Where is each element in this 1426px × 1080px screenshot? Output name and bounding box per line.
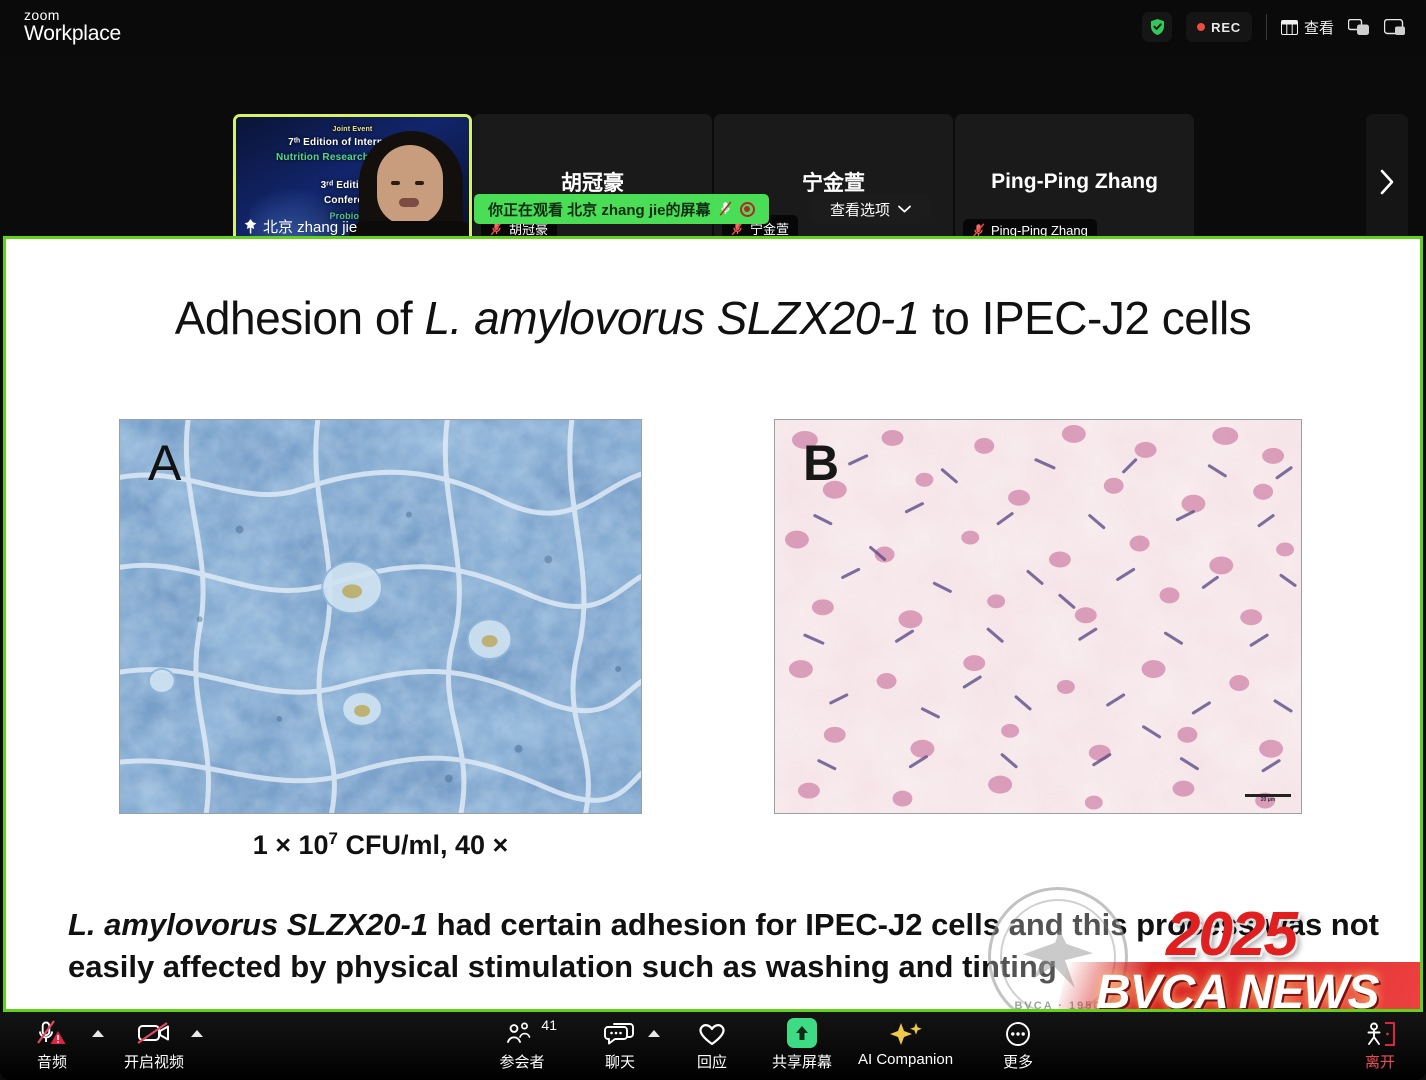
scale-bar: 20 μm — [1245, 794, 1291, 803]
start-video-label: 开启视频 — [124, 1051, 184, 1072]
zoom-workplace-logo: zoom Workplace — [24, 8, 121, 45]
participants-label: 参会者 — [499, 1051, 544, 1072]
chat-label: 聊天 — [605, 1051, 635, 1072]
caption-suffix: CFU/ml, 40 × — [338, 830, 508, 860]
participant-display-name: Ping-Ping Zhang — [955, 170, 1194, 194]
chat-button[interactable]: 聊天 — [592, 1018, 648, 1072]
participant-display-name: 宁金萱 — [714, 167, 953, 197]
presentation-slide: Adhesion of L. amylovorus SLZX20-1 to IP… — [6, 239, 1420, 1009]
panel-label-b: B — [803, 434, 839, 492]
slide-body-text: L. amylovorus SLZX20-1 had certain adhes… — [68, 904, 1380, 988]
title-suffix: to IPEC-J2 cells — [920, 292, 1252, 344]
recording-indicator[interactable]: REC — [1186, 12, 1252, 42]
shield-check-icon — [1149, 18, 1166, 36]
participant-tile-video[interactable]: Joint Event 7ᵗʰ Edition of International… — [233, 114, 472, 250]
slide-title: Adhesion of L. amylovorus SLZX20-1 to IP… — [6, 291, 1420, 345]
participant-filmstrip: Joint Event 7ᵗʰ Edition of International… — [0, 56, 1426, 192]
body-species: L. amylovorus SLZX20-1 — [68, 907, 428, 942]
encryption-shield-badge[interactable] — [1142, 12, 1172, 42]
leave-button[interactable]: 离开 — [1352, 1018, 1408, 1072]
mic-muted-icon — [719, 201, 732, 217]
recording-dot-icon — [740, 202, 755, 217]
leave-label: 离开 — [1365, 1051, 1395, 1072]
leave-meeting-icon — [1363, 1018, 1397, 1048]
minimize-window-icon — [1348, 19, 1370, 36]
participants-icon: 41 — [505, 1018, 539, 1048]
participant-tile-ning-jinxuan[interactable]: 宁金萱 宁金萱 — [714, 114, 953, 250]
chat-options-caret[interactable] — [648, 1030, 660, 1037]
view-label: 查看 — [1304, 17, 1334, 38]
ai-sparkle-icon — [887, 1018, 925, 1048]
watching-screen-banner: 你正在观看 北京 zhang jie的屏幕 — [474, 194, 769, 224]
ai-companion-button[interactable]: AI Companion — [858, 1018, 953, 1068]
participant-display-name: 胡冠豪 — [473, 167, 712, 197]
shared-screen-area[interactable]: Adhesion of L. amylovorus SLZX20-1 to IP… — [3, 236, 1423, 1012]
caption-exponent: 7 — [329, 829, 338, 848]
participant-tile-ping-ping-zhang[interactable]: Ping-Ping Zhang Ping-Ping Zhang — [955, 114, 1194, 250]
video-off-icon — [136, 1018, 172, 1048]
participants-count: 41 — [541, 1017, 557, 1033]
reactions-heart-icon — [696, 1018, 728, 1048]
brand-workplace: Workplace — [24, 23, 121, 45]
meeting-toolbar: 音频 开启视频 41 — [0, 1012, 1426, 1080]
audio-label: 音频 — [37, 1051, 67, 1072]
top-bar-right-controls: REC 查看 — [1142, 12, 1406, 42]
enter-fullscreen-icon — [1384, 19, 1406, 36]
title-prefix: Adhesion of — [175, 292, 425, 344]
figure-caption: 1 × 107 CFU/ml, 40 × — [119, 829, 642, 861]
mic-muted-warning-icon — [33, 1018, 71, 1048]
reactions-label: 回应 — [697, 1051, 727, 1072]
seal-text: BVCA · 1950 — [991, 1000, 1125, 1009]
video-options-caret[interactable] — [191, 1030, 203, 1037]
chat-icon — [603, 1018, 637, 1048]
ai-companion-label: AI Companion — [858, 1051, 953, 1068]
micrograph-image-a — [120, 420, 641, 813]
view-options-label: 查看选项 — [830, 199, 890, 220]
audio-button[interactable]: 音频 — [24, 1018, 80, 1072]
fullscreen-button[interactable] — [1384, 19, 1406, 36]
scale-bar-label: 20 μm — [1245, 797, 1291, 803]
participant-tile-hu-guanhao[interactable]: 胡冠豪 胡冠豪 — [473, 114, 712, 250]
brand-zoom: zoom — [24, 8, 121, 23]
share-screen-icon — [787, 1018, 817, 1048]
micrograph-panel-b: B 20 μm — [774, 419, 1302, 814]
participant-webcam-person — [351, 131, 472, 247]
micrograph-image-b — [775, 420, 1301, 814]
zoom-meeting-window: zoom Workplace REC — [0, 0, 1426, 1080]
micrograph-panel-a: A — [119, 419, 642, 814]
share-screen-button[interactable]: 共享屏幕 — [772, 1018, 832, 1072]
chevron-down-icon — [898, 205, 911, 213]
chevron-right-icon — [1380, 169, 1395, 195]
participants-button[interactable]: 41 参会者 — [494, 1018, 550, 1072]
reactions-button[interactable]: 回应 — [684, 1018, 740, 1072]
more-button[interactable]: 更多 — [990, 1018, 1046, 1072]
minimize-window-button[interactable] — [1348, 19, 1370, 36]
start-video-button[interactable]: 开启视频 — [124, 1018, 184, 1072]
grid-view-icon — [1281, 20, 1298, 35]
recording-label: REC — [1211, 20, 1241, 35]
screen-share-banner-row: 你正在观看 北京 zhang jie的屏幕 查看选项 — [0, 194, 1426, 226]
more-label: 更多 — [1003, 1051, 1033, 1072]
audio-options-caret[interactable] — [92, 1030, 104, 1037]
share-screen-label: 共享屏幕 — [772, 1051, 832, 1072]
filmstrip-next-button[interactable] — [1366, 114, 1408, 250]
recording-dot-icon — [1197, 23, 1205, 31]
view-button[interactable]: 查看 — [1281, 17, 1334, 38]
title-species: L. amylovorus SLZX20-1 — [425, 292, 920, 344]
watching-text: 你正在观看 北京 zhang jie的屏幕 — [488, 199, 711, 220]
panel-label-a: A — [148, 434, 181, 492]
toolbar-divider — [1266, 14, 1267, 40]
caption-prefix: 1 × 10 — [253, 830, 329, 860]
top-bar: zoom Workplace REC — [0, 0, 1426, 56]
more-ellipsis-icon — [1003, 1018, 1033, 1048]
view-options-button[interactable]: 查看选项 — [812, 194, 929, 224]
